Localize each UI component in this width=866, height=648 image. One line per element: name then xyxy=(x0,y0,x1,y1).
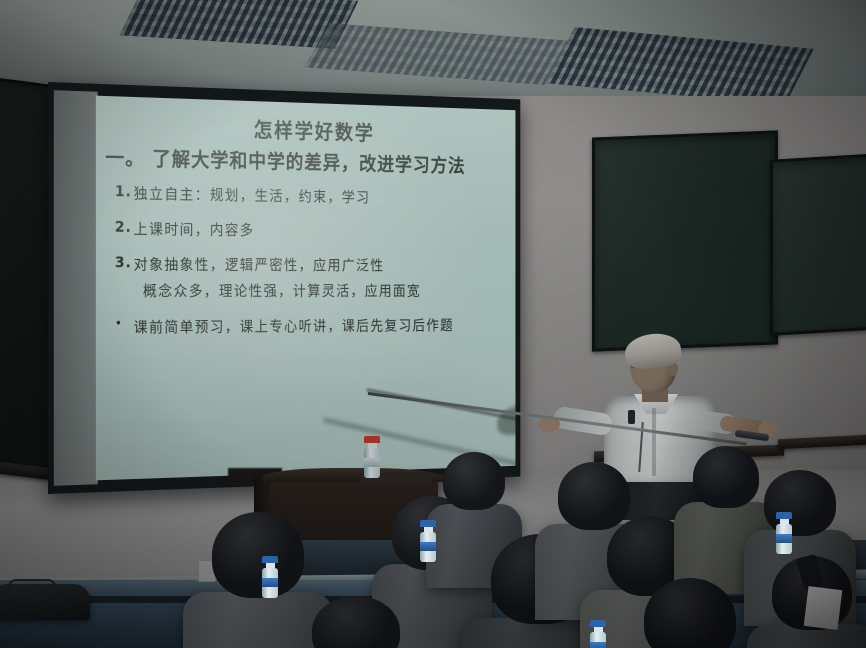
bottle-body xyxy=(590,632,606,648)
water-bottle xyxy=(262,556,278,598)
slide-item-text: 对象抽象性，逻辑严密性，应用广泛性 xyxy=(134,254,385,275)
note-paper xyxy=(804,586,843,630)
bullet-dot-icon: • xyxy=(109,317,133,332)
bottle-cap xyxy=(420,520,436,527)
lecture-hall-photo: 怎样学好数学 一。 了解大学和中学的差异，改进学习方法 1. 独立自主：规划，生… xyxy=(0,0,866,648)
laptop-bag xyxy=(0,584,90,620)
bag-handle xyxy=(8,579,56,589)
slide-list-item: 2. 上课时间，内容多 xyxy=(109,218,506,242)
slide-bullet-text: 课前简单预习，课上专心听讲，课后先复习后作题 xyxy=(134,315,454,337)
water-bottle xyxy=(364,436,380,478)
bottle-cap xyxy=(776,512,792,519)
audience-member xyxy=(283,596,429,648)
slide-list-item: 1. 独立自主：规划，生活，约束，学习 xyxy=(109,182,506,209)
bottle-cap xyxy=(262,556,278,563)
audience-member-head xyxy=(443,452,505,510)
water-bottle xyxy=(776,512,792,554)
projected-slide: 怎样学好数学 一。 了解大学和中学的差异，改进学习方法 1. 独立自主：规划，生… xyxy=(96,96,516,481)
audience-member-head xyxy=(644,578,736,648)
blackboard-center xyxy=(592,130,778,351)
water-bottle xyxy=(590,620,606,648)
bottle-cap xyxy=(364,436,380,443)
slide-list-item: 3. 对象抽象性，逻辑严密性，应用广泛性 xyxy=(109,253,506,275)
slide-item-number: 1. xyxy=(109,182,133,200)
hand-shadow xyxy=(495,400,516,439)
audience-member-head xyxy=(764,470,836,536)
audience-member-head xyxy=(212,512,304,598)
bottle-body xyxy=(420,532,436,562)
blackboard-right xyxy=(770,152,866,336)
bottle-body xyxy=(364,448,380,478)
bottle-body xyxy=(776,524,792,554)
screen-left-border xyxy=(54,90,98,486)
bottle-cap xyxy=(590,620,606,627)
slide-item-text: 上课时间，内容多 xyxy=(134,218,255,240)
audience-member-head xyxy=(312,596,400,648)
slide-item-number: 2. xyxy=(109,218,133,236)
audience-member xyxy=(615,578,765,648)
projection-screen: 怎样学好数学 一。 了解大学和中学的差异，改进学习方法 1. 独立自主：规划，生… xyxy=(48,82,520,494)
bottle-body xyxy=(262,568,278,598)
water-bottle xyxy=(420,520,436,562)
slide-sub-line: 概念众多，理论性强，计算灵活，应用面宽 xyxy=(143,280,506,301)
slide-item-text: 独立自主：规划，生活，约束，学习 xyxy=(134,183,371,207)
slide-bullet-item: • 课前简单预习，课上专心听讲，课后先复习后作题 xyxy=(109,315,506,338)
microphone-icon xyxy=(628,410,635,424)
slide-item-number: 3. xyxy=(109,253,133,271)
